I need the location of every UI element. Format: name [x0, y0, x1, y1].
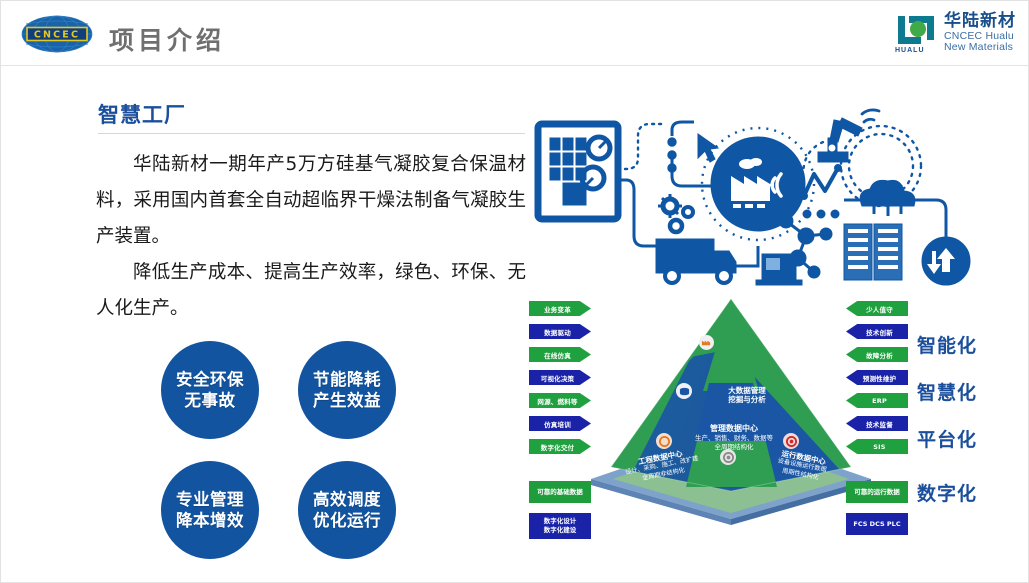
- hualu-mark-label: HUALU: [895, 47, 925, 54]
- maturity-pyramid-diagram: 智慧工厂 大数据管理 挖掘与分析 管理数据中心 生产、销售、财务、数据等 全周期…: [521, 291, 1026, 576]
- chevron-left-3-label: 在线仿真: [529, 350, 591, 360]
- wifi-signal-icon: [862, 110, 879, 122]
- side-title-intelligent: 智能化: [917, 331, 977, 358]
- benefit-circle-energy-line2: 产生效益: [313, 390, 381, 411]
- cursor-icon: [698, 134, 718, 162]
- gears-icon: [658, 194, 693, 232]
- benefit-circle-management[interactable]: 专业管理 降本增效: [161, 461, 259, 559]
- paragraph-2: 降低生产成本、提高生产效率，绿色、环保、无人化生产。: [96, 255, 526, 327]
- control-panel-icon: [538, 124, 618, 219]
- status-dots-icon: [668, 138, 676, 172]
- smart-factory-illustration: [526, 96, 1021, 286]
- body-text: 华陆新材一期年产5万方硅基气凝胶复合保温材料，采用国内首套全自动超临界干燥法制备…: [96, 147, 526, 327]
- benefit-circle-management-line2: 降本增效: [176, 510, 244, 531]
- pyramid-badge-operation-icon: [783, 433, 799, 449]
- section-title: 智慧工厂: [98, 99, 186, 129]
- chevron-right-2[interactable]: 技术创新: [846, 324, 908, 339]
- box-left-digital-design[interactable]: 数字化设计 数字化建设: [529, 513, 591, 539]
- pyramid-badge-data-icon: [676, 383, 692, 399]
- benefit-circle-energy[interactable]: 节能降耗 产生效益: [298, 341, 396, 439]
- chevron-right-6-label: 技术监督: [846, 419, 908, 429]
- box-right-run-data[interactable]: 可靠的运行数据: [846, 481, 908, 503]
- benefit-circle-scheduling-line1: 高效调度: [313, 489, 381, 510]
- benefit-circle-scheduling-line2: 优化运行: [313, 510, 381, 531]
- benefit-circle-safety-line2: 无事故: [185, 390, 236, 411]
- chevron-left-4[interactable]: 可视化决策: [529, 370, 591, 385]
- chevron-right-7[interactable]: SIS: [846, 439, 908, 454]
- side-title-platform: 平台化: [917, 425, 977, 452]
- hualu-mark-icon: HUALU: [895, 13, 937, 53]
- svg-text:CNCEC: CNCEC: [34, 30, 80, 41]
- benefit-circle-management-line1: 专业管理: [176, 489, 244, 510]
- chevron-right-4-label: 预测性维护: [846, 373, 908, 383]
- pyramid-badge-engineering-icon: [656, 433, 672, 449]
- chevron-left-2-label: 数据驱动: [529, 327, 591, 337]
- upload-download-icon: [922, 237, 970, 285]
- chevron-left-6-label: 仿真培训: [529, 419, 591, 429]
- factory-wifi-icon: [702, 128, 814, 240]
- monitor-icon: [736, 246, 802, 285]
- paragraph-1: 华陆新材一期年产5万方硅基气凝胶复合保温材料，采用国内首套全自动超临界干燥法制备…: [96, 147, 526, 255]
- benefit-circle-energy-line1: 节能降耗: [313, 369, 381, 390]
- benefit-circles: 安全环保 无事故 节能降耗 产生效益 专业管理 降本增效 高效调度 优化运行: [161, 341, 421, 561]
- server-rack-icon: [844, 224, 902, 280]
- benefit-circle-scheduling[interactable]: 高效调度 优化运行: [298, 461, 396, 559]
- chevron-right-3-label: 故障分析: [846, 350, 908, 360]
- chevron-left-7-label: 数字化交付: [529, 442, 591, 452]
- slide: CNCEC 项目介绍 HUALU 华陆新材 CNCEC Hualu New Ma…: [0, 0, 1029, 583]
- chevron-left-2[interactable]: 数据驱动: [529, 324, 591, 339]
- truck-icon: [656, 239, 736, 283]
- benefit-circle-safety[interactable]: 安全环保 无事故: [161, 341, 259, 439]
- pyramid-graphic: 智慧工厂 大数据管理 挖掘与分析 管理数据中心 生产、销售、财务、数据等 全周期…: [581, 291, 881, 521]
- cncec-logo: CNCEC: [21, 15, 93, 53]
- chevron-left-3[interactable]: 在线仿真: [529, 347, 591, 362]
- chevron-left-5-label: 网源、燃料等: [529, 396, 591, 406]
- chevron-right-1-label: 少人值守: [846, 304, 908, 314]
- brand-name-en-line2: New Materials: [944, 42, 1016, 53]
- chevron-left-1[interactable]: 业务变革: [529, 301, 591, 316]
- chevron-left-1-label: 业务变革: [529, 304, 591, 314]
- page-header: CNCEC 项目介绍 HUALU 华陆新材 CNCEC Hualu New Ma…: [1, 1, 1029, 66]
- chevron-right-6[interactable]: 技术监督: [846, 416, 908, 431]
- hualu-brand-logo: HUALU 华陆新材 CNCEC Hualu New Materials: [895, 13, 1016, 53]
- chevron-right-5[interactable]: ERP: [846, 393, 908, 408]
- robot-arm-icon: [818, 118, 862, 162]
- chevron-left-4-label: 可视化决策: [529, 373, 591, 383]
- box-left-base-data[interactable]: 可靠的基础数据: [529, 481, 591, 503]
- box-right-fcs-dcs-plc[interactable]: FCS DCS PLC: [846, 513, 908, 535]
- hualu-wordmark: 华陆新材 CNCEC Hualu New Materials: [944, 13, 1016, 53]
- section-divider: [98, 133, 525, 134]
- pyramid-badge-center-icon: [720, 449, 736, 465]
- chevron-right-2-label: 技术创新: [846, 327, 908, 337]
- chevron-right-3[interactable]: 故障分析: [846, 347, 908, 362]
- benefit-circle-safety-line1: 安全环保: [176, 369, 244, 390]
- chevron-left-7[interactable]: 数字化交付: [529, 439, 591, 454]
- page-title: 项目介绍: [109, 21, 225, 57]
- dot-row-icon: [803, 210, 839, 218]
- chevron-left-6[interactable]: 仿真培训: [529, 416, 591, 431]
- chevron-right-5-label: ERP: [846, 397, 908, 405]
- line-chart-icon: [804, 168, 838, 196]
- chevron-left-5[interactable]: 网源、燃料等: [529, 393, 591, 408]
- pyramid-badge-factory-icon: [699, 335, 714, 350]
- chevron-right-1[interactable]: 少人值守: [846, 301, 908, 316]
- brand-name-cn: 华陆新材: [944, 13, 1016, 31]
- chevron-right-7-label: SIS: [846, 443, 908, 451]
- cloud-icon: [860, 180, 915, 216]
- side-title-digital: 数字化: [917, 479, 977, 506]
- chevron-right-4[interactable]: 预测性维护: [846, 370, 908, 385]
- side-title-smart: 智慧化: [917, 378, 977, 405]
